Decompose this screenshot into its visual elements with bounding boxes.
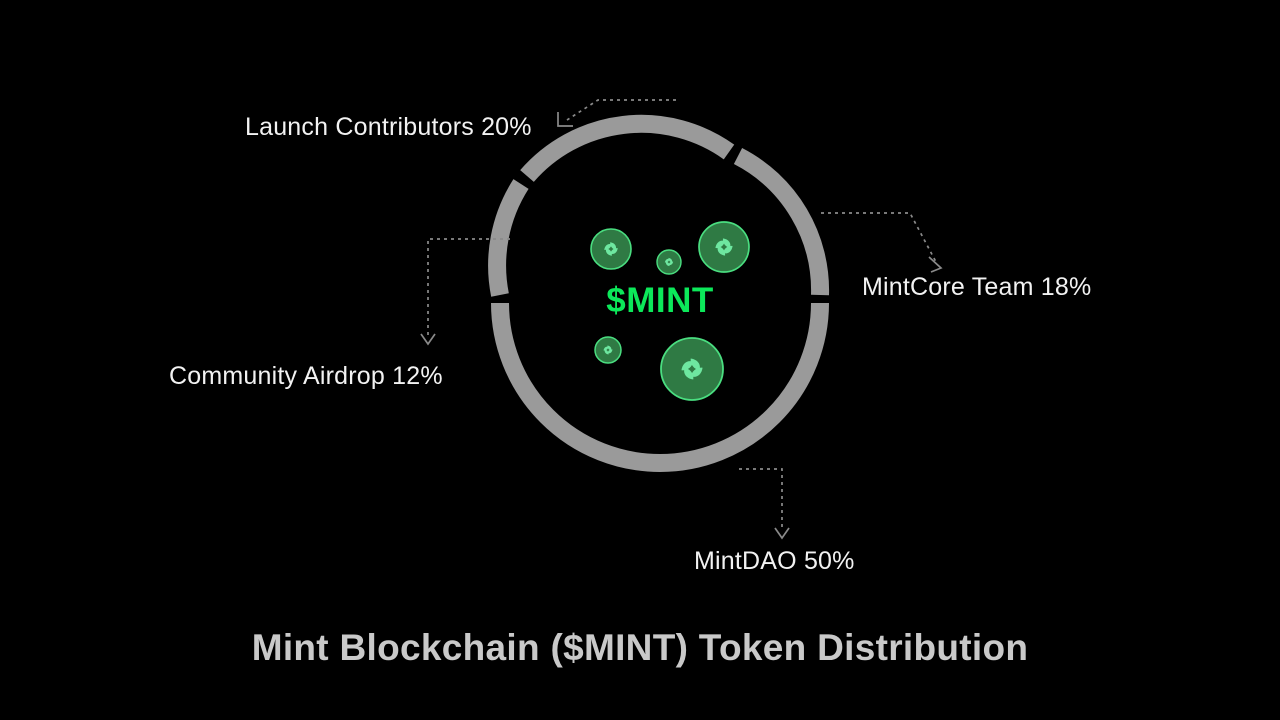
leader-arrow-mintdao xyxy=(775,528,789,538)
mint-leaf-icon-2[interactable] xyxy=(657,250,681,274)
mint-leaf-icon-4[interactable] xyxy=(595,337,621,363)
donut-segment-launch-contributors[interactable] xyxy=(527,124,729,176)
leader-arrow-community-airdrop xyxy=(421,334,435,344)
donut-segment-mintdao[interactable] xyxy=(500,303,820,463)
mint-leaf-icon-5[interactable] xyxy=(661,338,723,400)
leader-line-mintcore-team xyxy=(821,213,936,262)
donut-segment-mintcore-team[interactable] xyxy=(738,156,820,295)
segment-label-mintdao: MintDAO 50% xyxy=(694,547,855,576)
donut-chart-svg xyxy=(0,0,1280,720)
mint-leaf-icon-3[interactable] xyxy=(699,222,749,272)
chart-canvas: $MINT Launch Contributors 20% MintCore T… xyxy=(0,0,1280,720)
chart-title: Mint Blockchain ($MINT) Token Distributi… xyxy=(0,627,1280,669)
segment-label-mintcore-team: MintCore Team 18% xyxy=(862,273,1091,302)
leader-line-mintdao xyxy=(739,469,782,528)
leader-arrow-launch-contributors xyxy=(558,112,573,126)
segment-label-community-airdrop: Community Airdrop 12% xyxy=(169,362,443,391)
mint-leaf-icon-1[interactable] xyxy=(591,229,631,269)
segment-label-launch-contributors: Launch Contributors 20% xyxy=(245,113,532,142)
